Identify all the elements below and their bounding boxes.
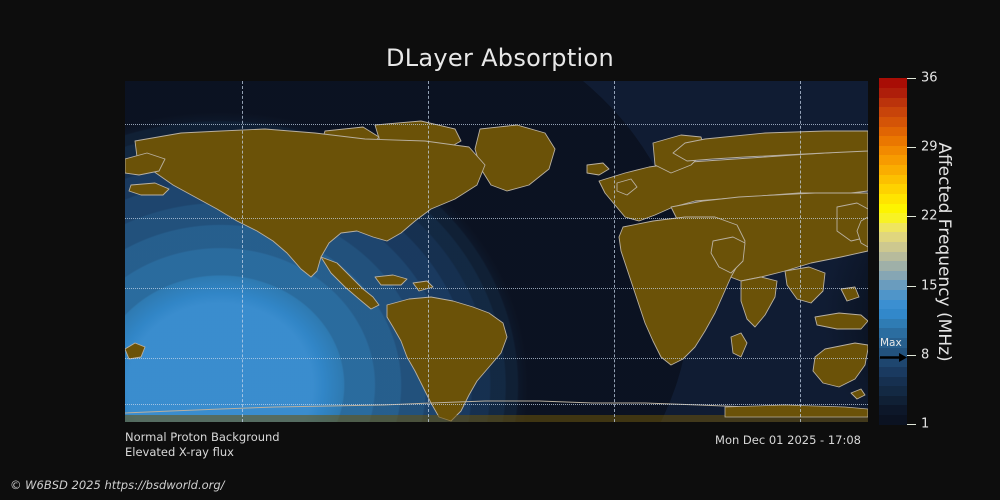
colorbar-tick xyxy=(907,355,916,356)
colorbar-segment xyxy=(879,395,907,405)
colorbar-segment xyxy=(879,193,907,203)
colorbar-segment xyxy=(879,299,907,309)
caption-xray-flux: Elevated X-ray flux xyxy=(125,445,234,459)
colorbar-segment xyxy=(879,309,907,319)
max-arrow-icon xyxy=(879,352,907,363)
colorbar-segment xyxy=(879,414,907,424)
colorbar-segment xyxy=(879,270,907,280)
land-indonesia xyxy=(815,313,868,329)
colorbar-segment xyxy=(879,222,907,232)
colorbar-segment xyxy=(879,184,907,194)
colorbar-segment xyxy=(879,261,907,271)
colorbar-tick xyxy=(907,78,916,79)
colorbar-segment xyxy=(879,88,907,98)
colorbar-segment xyxy=(879,366,907,376)
colorbar-segment xyxy=(879,165,907,175)
map-canvas xyxy=(125,81,868,422)
app-root: DLayer Absorption xyxy=(0,0,1000,500)
colorbar-segment xyxy=(879,116,907,126)
colorbar-segment xyxy=(879,126,907,136)
colorbar-segment xyxy=(879,213,907,223)
colorbar-segment xyxy=(879,78,907,88)
colorbar-segment xyxy=(879,386,907,396)
colorbar-segment xyxy=(879,203,907,213)
colorbar-segment xyxy=(879,405,907,415)
colorbar-axis-title: Affected Frequency (MHz) xyxy=(928,72,954,432)
colorbar-tick xyxy=(907,286,916,287)
colorbar-gradient xyxy=(879,78,907,424)
max-marker-label: Max xyxy=(880,338,902,348)
colorbar-tick xyxy=(907,424,916,425)
colorbar-segment xyxy=(879,174,907,184)
colorbar-segment xyxy=(879,289,907,299)
caption-timestamp: Mon Dec 01 2025 - 17:08 xyxy=(0,433,861,447)
colorbar-segment xyxy=(879,251,907,261)
colorbar-segment xyxy=(879,136,907,146)
colorbar-segment xyxy=(879,232,907,242)
colorbar-max-marker: Max xyxy=(879,340,907,366)
colorbar-segment xyxy=(879,145,907,155)
colorbar-segment xyxy=(879,376,907,386)
colorbar-segment xyxy=(879,155,907,165)
colorbar-segment xyxy=(879,318,907,328)
page-title: DLayer Absorption xyxy=(0,44,1000,72)
colorbar-tick xyxy=(907,216,916,217)
colorbar-segment xyxy=(879,280,907,290)
colorbar[interactable] xyxy=(879,78,907,424)
colorbar-segment xyxy=(879,107,907,117)
colorbar-tick xyxy=(907,147,916,148)
colorbar-segment xyxy=(879,241,907,251)
colorbar-segment xyxy=(879,97,907,107)
world-map[interactable] xyxy=(125,81,868,422)
antarctica-east-fill xyxy=(725,405,868,417)
copyright-notice: © W6BSD 2025 https://bsdworld.org/ xyxy=(10,478,225,492)
